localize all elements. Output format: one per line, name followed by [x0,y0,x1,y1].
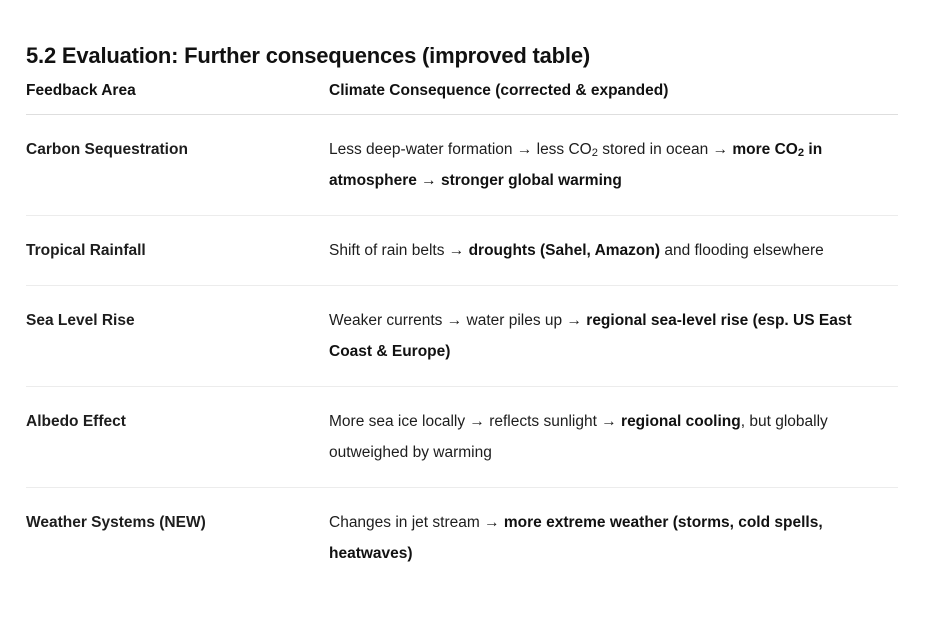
table-row: Tropical RainfallShift of rain belts → d… [26,216,898,286]
cell-climate-consequence: Weaker currents → water piles up → regio… [329,286,898,387]
table-row: Weather Systems (NEW)Changes in jet stre… [26,488,898,589]
cell-feedback-area: Sea Level Rise [26,286,329,387]
column-header-climate-consequence: Climate Consequence (corrected & expande… [329,74,898,115]
table-container: Feedback Area Climate Consequence (corre… [26,74,898,588]
cell-climate-consequence: Less deep-water formation → less CO2 sto… [329,115,898,216]
column-header-feedback-area: Feedback Area [26,74,329,115]
cell-feedback-area: Albedo Effect [26,387,329,488]
cell-climate-consequence: Shift of rain belts → droughts (Sahel, A… [329,216,898,286]
table-header: Feedback Area Climate Consequence (corre… [26,74,898,115]
table-row: Sea Level RiseWeaker currents → water pi… [26,286,898,387]
cell-feedback-area: Weather Systems (NEW) [26,488,329,589]
page-title: 5.2 Evaluation: Further consequences (im… [26,41,590,71]
table-row: Carbon SequestrationLess deep-water form… [26,115,898,216]
table-row: Albedo EffectMore sea ice locally → refl… [26,387,898,488]
table-header-row: Feedback Area Climate Consequence (corre… [26,74,898,115]
cell-climate-consequence: Changes in jet stream → more extreme wea… [329,488,898,589]
cell-feedback-area: Tropical Rainfall [26,216,329,286]
table-body: Carbon SequestrationLess deep-water form… [26,115,898,589]
cell-climate-consequence: More sea ice locally → reflects sunlight… [329,387,898,488]
document-page: 5.2 Evaluation: Further consequences (im… [0,0,940,621]
cell-feedback-area: Carbon Sequestration [26,115,329,216]
consequences-table: Feedback Area Climate Consequence (corre… [26,74,898,588]
